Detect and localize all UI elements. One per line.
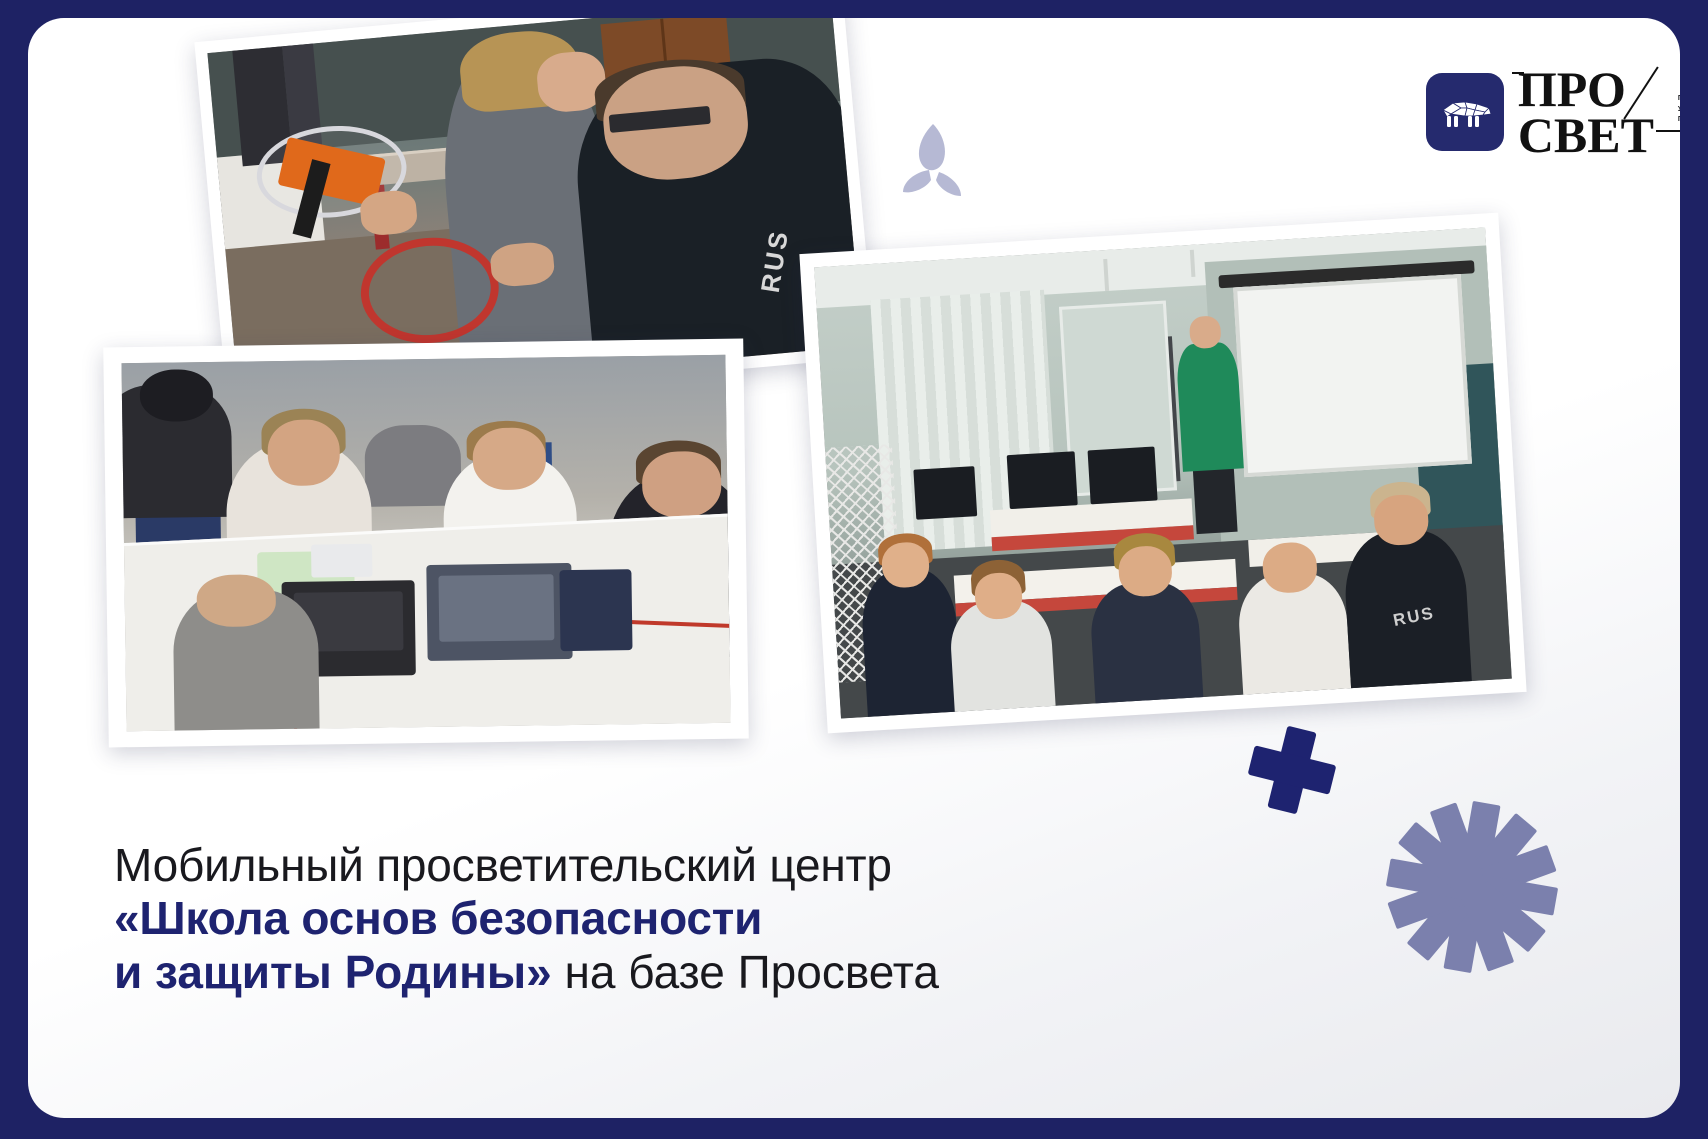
- headline-line-3-bold: и защиты Родины»: [114, 946, 552, 998]
- photo-classroom-image: RUS: [814, 227, 1512, 718]
- poster-root: RUS: [0, 0, 1708, 1139]
- headline-line-1: Мобильный просветительский центр: [114, 839, 1164, 893]
- cross-icon: [1241, 719, 1343, 821]
- polar-bear-icon: [1426, 73, 1504, 151]
- headline-block: Мобильный просветительский центр «Школа …: [114, 839, 1164, 1000]
- photo-first-aid-image: [121, 355, 730, 731]
- brand-wordmark: ПРО СВЕТ ГОСУДАРСТВЕННЫЙ УНИВЕРСИТЕТ ПРО…: [1518, 66, 1654, 158]
- brand-subtitle-line3: ПРОСВЕЩЕНИЯ: [1678, 115, 1680, 126]
- leaf-icon: [893, 122, 971, 200]
- headline-line-2: «Школа основ безопасности: [114, 892, 1164, 946]
- photo-classroom-lecture: RUS: [799, 213, 1526, 734]
- brand-word-svet: СВЕТ: [1518, 112, 1654, 158]
- brand-subtitle: ГОСУДАРСТВЕННЫЙ УНИВЕРСИТЕТ ПРОСВЕЩЕНИЯ: [1678, 94, 1680, 126]
- poster-card: RUS: [28, 18, 1680, 1118]
- brand-subtitle-line1: ГОСУДАРСТВЕННЫЙ: [1678, 94, 1680, 105]
- photo-first-aid-training: [103, 339, 749, 748]
- logo-rule-top: [1512, 72, 1524, 74]
- headline-line-3-rest: на базе Просвета: [552, 946, 939, 998]
- headline-line-3: и защиты Родины» на базе Просвета: [114, 946, 1164, 1000]
- logo-rule-bottom: [1656, 130, 1680, 132]
- asterisk-icon: [1374, 789, 1571, 986]
- brand-logo: ПРО СВЕТ ГОСУДАРСТВЕННЫЙ УНИВЕРСИТЕТ ПРО…: [1426, 66, 1654, 158]
- brand-subtitle-line2: УНИВЕРСИТЕТ: [1678, 105, 1680, 116]
